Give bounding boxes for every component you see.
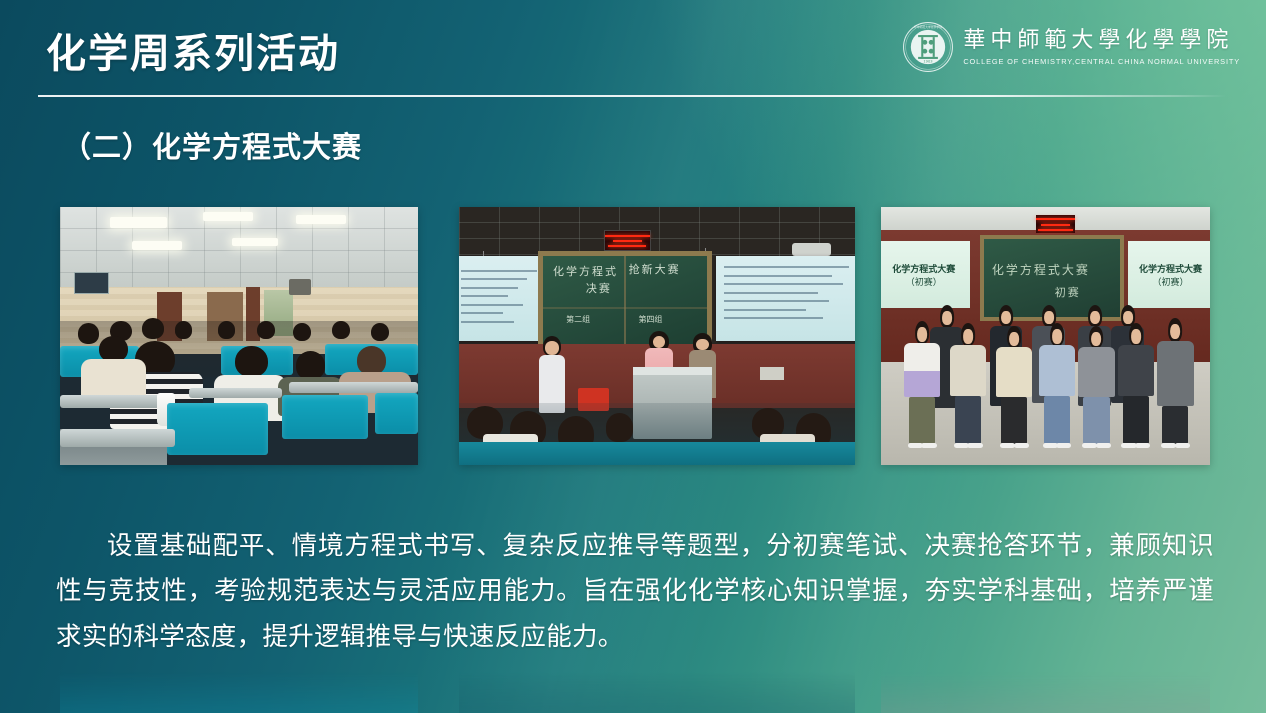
photo-row: 化学方程式 抢新大赛 决赛 第二组 第四组 <box>0 207 1266 469</box>
logo-english-name: COLLEGE OF CHEMISTRY,CENTRAL CHINA NORMA… <box>963 57 1240 66</box>
photo-group: 化学方程式大赛 （初赛） 化学方程式大赛 （初赛） 化学方程式大赛 初赛 <box>881 207 1210 465</box>
board3-text-1: 化学方程式大赛 <box>992 261 1090 278</box>
board-text-1: 化学方程式 <box>553 263 618 279</box>
board-column-mark-2: 第四组 <box>638 314 662 325</box>
svg-text:1903: 1903 <box>924 60 934 64</box>
screen-title-left: 化学方程式大赛 <box>881 262 970 275</box>
board-column-mark-1: 第二组 <box>566 314 590 325</box>
header-divider <box>38 95 1226 97</box>
screen-title-right: 化学方程式大赛 <box>1128 262 1210 275</box>
photo-exam-hall <box>60 207 418 465</box>
university-logo: 1903 华中师范大学化学学院 華中師範大學化學學院 COLLEGE OF CH… <box>902 21 1240 73</box>
photo-final-stage: 化学方程式 抢新大赛 决赛 第二组 第四组 <box>459 207 855 465</box>
board3-text-2: 初赛 <box>1055 284 1081 300</box>
screen-subtitle-left: （初赛） <box>881 275 970 288</box>
photo-reflection-3 <box>881 672 1210 713</box>
logo-chinese-name: 華中師範大學化學學院 <box>963 28 1240 53</box>
board-text-3: 抢新大赛 <box>629 261 681 277</box>
photo-reflection-1 <box>60 672 418 713</box>
board-text-2: 决赛 <box>586 280 612 296</box>
page-title: 化学周系列活动 <box>46 30 340 78</box>
section-subtitle: （二）化学方程式大赛 <box>62 124 362 166</box>
university-seal-icon: 1903 华中师范大学化学学院 <box>902 21 954 73</box>
svg-text:华中师范大学化学学院: 华中师范大学化学学院 <box>914 25 942 29</box>
slide-root: 化学周系列活动 （二）化学方程式大赛 1903 华中师范大学化学学院 <box>0 0 1266 713</box>
description-paragraph: 设置基础配平、情境方程式书写、复杂反应推导等题型，分初赛笔试、决赛抢答环节，兼顾… <box>56 524 1214 660</box>
photo-reflection-2 <box>459 672 855 713</box>
screen-subtitle-right: （初赛） <box>1128 275 1210 288</box>
led-banner <box>604 230 652 251</box>
led-banner-group <box>1036 215 1075 233</box>
logo-text-block: 華中師範大學化學學院 COLLEGE OF CHEMISTRY,CENTRAL … <box>963 28 1240 65</box>
